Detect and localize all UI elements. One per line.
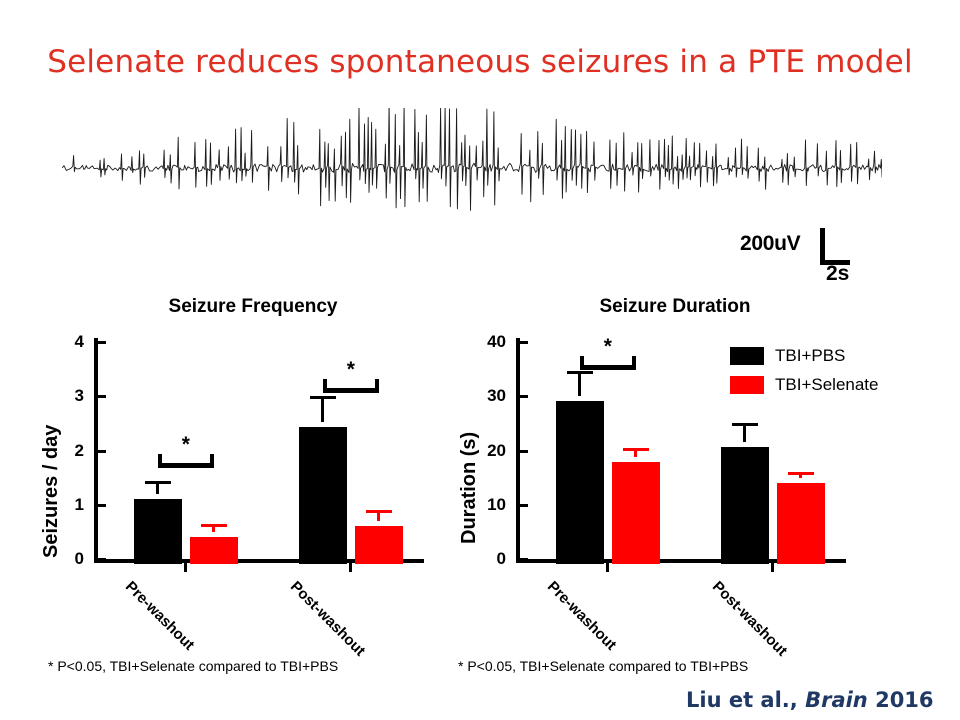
bracket-tick-right <box>632 356 636 370</box>
y-axis-tick-label: 4 <box>24 333 84 350</box>
y-axis-tick-label: 1 <box>24 496 84 513</box>
bar-tbi-pbs-post-washout <box>299 427 347 564</box>
y-axis-tick-label: 40 <box>446 333 506 350</box>
x-axis-tick-label: Pre-washout <box>544 578 620 654</box>
y-axis-tick-label: 20 <box>446 442 506 459</box>
y-axis-tick-label: 2 <box>24 442 84 459</box>
legend-label: TBI+Selenate <box>775 375 879 395</box>
y-axis-tick <box>520 395 528 398</box>
slide-canvas: Selenate reduces spontaneous seizures in… <box>0 0 960 720</box>
y-axis-tick <box>98 504 106 507</box>
bar-tbi-selenate-post-washout <box>777 483 825 564</box>
error-bar-cap <box>366 510 392 513</box>
citation-year: 2016 <box>868 688 934 712</box>
chart-title: Seizure Duration <box>480 296 870 318</box>
bracket-tick-right <box>210 454 214 468</box>
error-bar-cap <box>567 371 593 374</box>
error-bar-cap <box>310 396 336 399</box>
bar-tbi-selenate-pre-washout <box>612 462 660 564</box>
scalebar-voltage-label: 200uV <box>740 232 800 256</box>
significance-bracket: * <box>158 454 214 468</box>
chart-title: Seizure Frequency <box>58 296 448 318</box>
error-bar-cap <box>145 481 171 484</box>
eeg-trace <box>62 108 882 238</box>
error-bar-cap <box>623 448 649 451</box>
chart-legend: TBI+PBS TBI+Selenate <box>730 341 950 399</box>
error-bar-cap <box>788 472 814 475</box>
page-title: Selenate reduces spontaneous seizures in… <box>0 44 960 80</box>
significance-bracket: * <box>580 356 636 370</box>
y-axis-tick-label: 3 <box>24 387 84 404</box>
y-axis-tick-label: 0 <box>24 550 84 567</box>
footnote-significance-left: * P<0.05, TBI+Selenate compared to TBI+P… <box>48 658 338 674</box>
y-axis-tick-label: 10 <box>446 496 506 513</box>
error-bar-stem <box>578 371 581 396</box>
bar-tbi-pbs-pre-washout <box>556 401 604 564</box>
bracket-bar <box>323 388 379 393</box>
citation: Liu et al., Brain 2016 <box>686 688 934 712</box>
legend-item: TBI+Selenate <box>730 370 950 399</box>
y-axis-tick <box>98 395 106 398</box>
chart-seizure-frequency: Seizure Frequency Seizures / day 01234Pr… <box>18 296 448 596</box>
y-axis-tick-label: 30 <box>446 387 506 404</box>
x-axis-tick <box>771 563 774 572</box>
footnote-significance-right: * P<0.05, TBI+Selenate compared to TBI+P… <box>458 658 748 674</box>
y-axis-tick <box>520 450 528 453</box>
bracket-tick-right <box>375 379 379 393</box>
y-axis-tick <box>98 558 106 561</box>
bar-tbi-selenate-post-washout <box>355 526 403 564</box>
error-bar-stem <box>321 396 324 422</box>
eeg-panel: 200uV 2s <box>62 108 882 288</box>
eeg-scale-bar: 200uV 2s <box>740 222 900 292</box>
bracket-bar <box>580 365 636 370</box>
y-axis-tick <box>520 504 528 507</box>
x-axis-tick <box>184 563 187 572</box>
significance-asterisk: * <box>323 359 379 380</box>
y-axis-tick <box>520 558 528 561</box>
bar-tbi-selenate-pre-washout <box>190 537 238 564</box>
bracket-bar <box>158 463 214 468</box>
citation-journal: Brain <box>805 688 868 712</box>
legend-swatch-tbi-pbs <box>730 347 764 365</box>
legend-item: TBI+PBS <box>730 341 950 370</box>
y-axis-tick-label: 0 <box>446 550 506 567</box>
x-axis-tick <box>606 563 609 572</box>
y-axis-tick <box>98 450 106 453</box>
bar-tbi-pbs-post-washout <box>721 447 769 564</box>
scalebar-vertical-mark <box>820 228 825 264</box>
bar-tbi-pbs-pre-washout <box>134 499 182 564</box>
error-bar-cap <box>732 423 758 426</box>
legend-label: TBI+PBS <box>775 346 845 366</box>
significance-bracket: * <box>323 379 379 393</box>
x-axis-tick-label: Pre-washout <box>122 578 198 654</box>
error-bar-cap <box>201 524 227 527</box>
scalebar-time-label: 2s <box>826 262 849 286</box>
x-axis-tick-label: Post-washout <box>709 578 791 660</box>
x-axis-tick-label: Post-washout <box>287 578 369 660</box>
plot-area: 01234Pre-washoutPost-washout** <box>94 338 424 568</box>
significance-asterisk: * <box>580 336 636 357</box>
legend-swatch-tbi-selenate <box>730 376 764 394</box>
citation-authors: Liu et al., <box>686 688 805 712</box>
x-axis-tick <box>349 563 352 572</box>
significance-asterisk: * <box>158 434 214 455</box>
y-axis-tick <box>520 341 528 344</box>
y-axis-tick <box>98 341 106 344</box>
